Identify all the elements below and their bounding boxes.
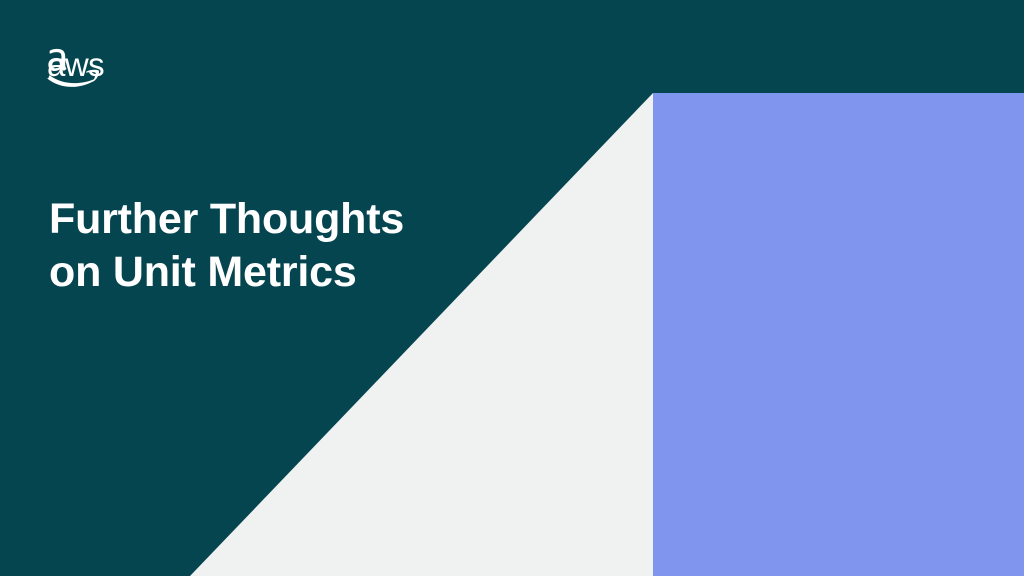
title-line-1: Further Thoughts xyxy=(49,193,569,246)
title-line-2: on Unit Metrics xyxy=(49,246,569,299)
slide-canvas: aws Further Thoughts on Unit Metrics xyxy=(0,0,1024,576)
page-title: Further Thoughts on Unit Metrics xyxy=(49,193,569,299)
aws-logo-svg: aws xyxy=(47,46,147,100)
blue-panel xyxy=(653,93,1024,576)
aws-logo: aws xyxy=(47,46,147,100)
